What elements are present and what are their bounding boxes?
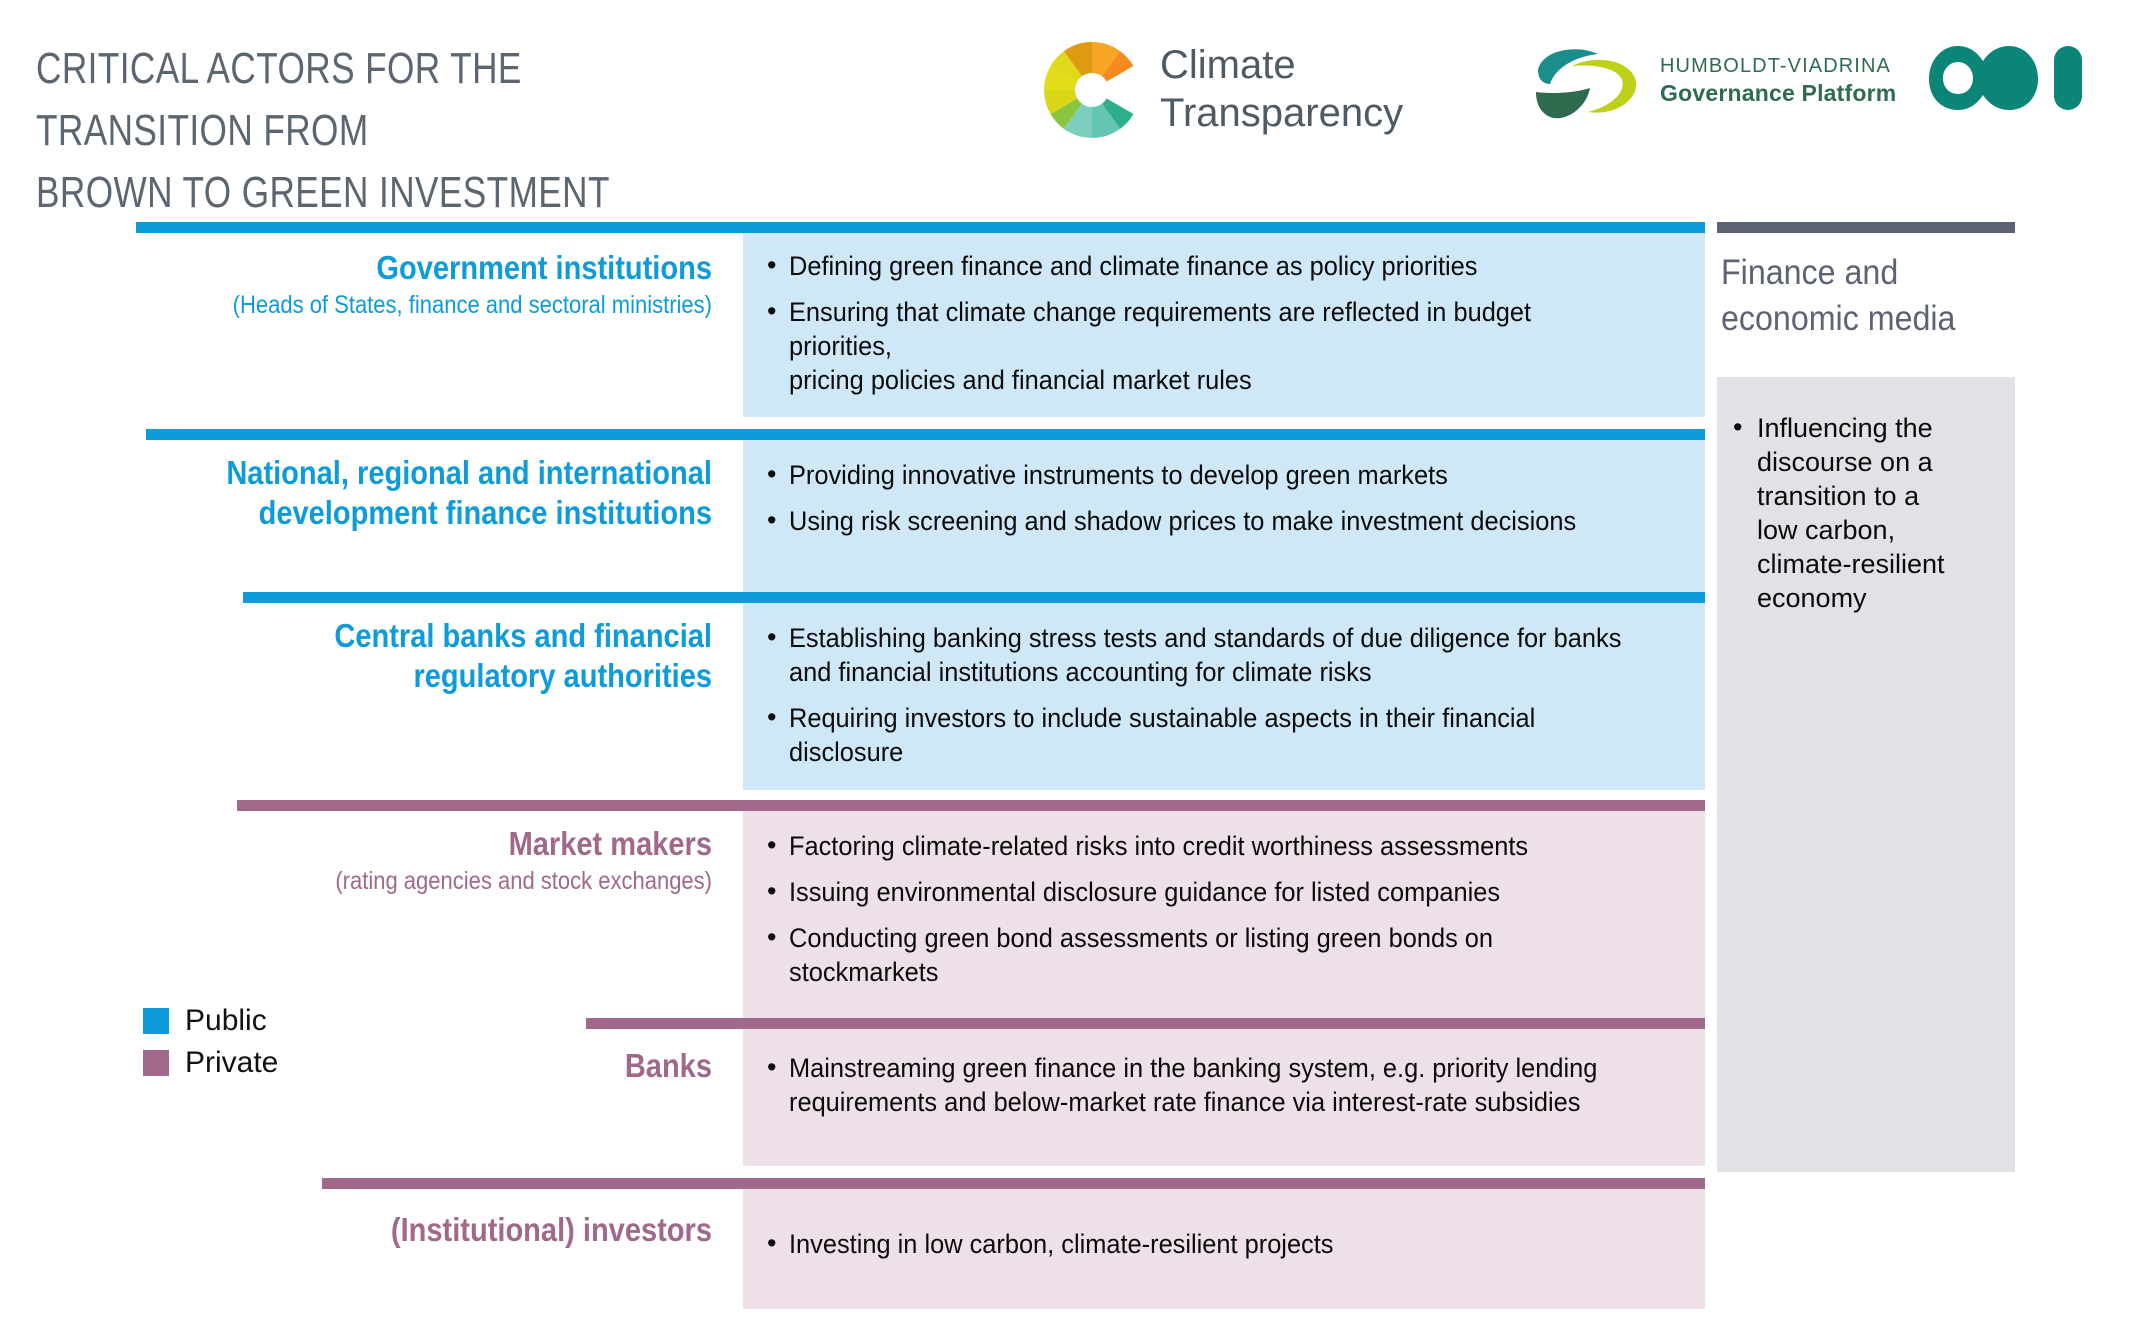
- bullet-text: Investing in low carbon, climate-resilie…: [789, 1227, 1333, 1261]
- humboldt-viadrina-line1: HUMBOLDT-VIADRINA: [1660, 55, 1891, 78]
- humboldt-viadrina-logo: HUMBOLDT-VIADRINA Governance Platform: [1528, 38, 1898, 134]
- row-accent-bar: [146, 429, 1705, 440]
- humboldt-viadrina-mark: [1528, 40, 1648, 128]
- row-accent-bar: [322, 1178, 1705, 1189]
- bullet-list: Investing in low carbon, climate-resilie…: [763, 1227, 1685, 1261]
- row-label: Market makers (rating agencies and stock…: [150, 824, 712, 898]
- bullet-list: Defining green finance and climate finan…: [763, 249, 1685, 397]
- sidebar-accent-bar: [1717, 222, 2015, 233]
- row-accent-bar: [243, 592, 1705, 603]
- sidebar-bullet-panel: Influencing the discourse on a transitio…: [1717, 377, 2015, 1172]
- bullet-text: Requiring investors to include sustainab…: [789, 701, 1631, 769]
- row-label-sub: (Heads of States, finance and sectoral m…: [217, 288, 712, 322]
- row-bullet-panel: Factoring climate-related risks into cre…: [743, 811, 1705, 1018]
- bullet-list: Mainstreaming green finance in the banki…: [763, 1051, 1685, 1119]
- row-label-main: Banks: [217, 1046, 712, 1086]
- bullet-item: Investing in low carbon, climate-resilie…: [763, 1227, 1685, 1261]
- bullet-text: Using risk screening and shadow prices t…: [789, 504, 1576, 538]
- odi-logo: [1928, 40, 2088, 114]
- row-label-main: Government institutions: [217, 248, 712, 288]
- bullet-text: Defining green finance and climate finan…: [789, 249, 1477, 283]
- bullet-list: Establishing banking stress tests and st…: [763, 621, 1685, 769]
- row-label: Government institutions (Heads of States…: [150, 248, 712, 322]
- row-label: National, regional and international dev…: [150, 453, 712, 533]
- legend-item-public: Public: [143, 1000, 278, 1042]
- page-title: CRITICAL ACTORS FOR THE TRANSITION FROM …: [36, 38, 724, 224]
- bullet-item: Establishing banking stress tests and st…: [763, 621, 1685, 689]
- bullet-item: Requiring investors to include sustainab…: [763, 701, 1685, 769]
- legend-label-private: Private: [185, 1048, 278, 1078]
- bullet-text: Providing innovative instruments to deve…: [789, 458, 1448, 492]
- row-bullet-panel: Mainstreaming green finance in the banki…: [743, 1029, 1705, 1166]
- row-bullet-panel: Investing in low carbon, climate-resilie…: [743, 1189, 1705, 1309]
- row-label: Central banks and financial regulatory a…: [150, 616, 712, 696]
- bullet-item: Influencing the discourse on a transitio…: [1731, 411, 2001, 615]
- bullet-item: Mainstreaming green finance in the banki…: [763, 1051, 1685, 1119]
- bullet-list: Providing innovative instruments to deve…: [763, 458, 1685, 538]
- bullet-item: Conducting green bond assessments or lis…: [763, 921, 1685, 989]
- row-label-main: National, regional and international dev…: [217, 453, 712, 533]
- legend-label-public: Public: [185, 1006, 267, 1036]
- humboldt-viadrina-line2: Governance Platform: [1660, 80, 1896, 107]
- legend-swatch-private-icon: [143, 1050, 169, 1076]
- bullet-text: Conducting green bond assessments or lis…: [789, 921, 1631, 989]
- climate-transparency-logo: Climate Transparency: [1040, 35, 1460, 145]
- row-bullet-panel: Establishing banking stress tests and st…: [743, 603, 1705, 790]
- row-bullet-panel: Providing innovative instruments to deve…: [743, 440, 1705, 592]
- bullet-text: Factoring climate-related risks into cre…: [789, 829, 1528, 863]
- bullet-text: Influencing the discourse on a transitio…: [1757, 413, 1945, 613]
- row-accent-bar: [586, 1018, 1705, 1029]
- legend-swatch-public-icon: [143, 1008, 169, 1034]
- climate-transparency-mark: [1040, 38, 1144, 142]
- bullet-item: Issuing environmental disclosure guidanc…: [763, 875, 1685, 909]
- row-label-main: (Institutional) investors: [217, 1210, 712, 1250]
- bullet-text: Ensuring that climate change requirement…: [789, 295, 1631, 397]
- bullet-item: Defining green finance and climate finan…: [763, 249, 1685, 283]
- bullet-text: Establishing banking stress tests and st…: [789, 621, 1621, 689]
- bullet-item: Ensuring that climate change requirement…: [763, 295, 1685, 397]
- bullet-item: Using risk screening and shadow prices t…: [763, 504, 1685, 538]
- bullet-item: Factoring climate-related risks into cre…: [763, 829, 1685, 863]
- legend: Public Private: [143, 1000, 278, 1084]
- row-label: (Institutional) investors: [150, 1210, 712, 1250]
- bullet-list: Influencing the discourse on a transitio…: [1717, 377, 2015, 615]
- climate-transparency-wordmark: Climate Transparency: [1160, 41, 1403, 137]
- page-header: CRITICAL ACTORS FOR THE TRANSITION FROM …: [0, 0, 2135, 170]
- bullet-list: Factoring climate-related risks into cre…: [763, 829, 1685, 989]
- bullet-text: Mainstreaming green finance in the banki…: [789, 1051, 1597, 1119]
- bullet-item: Providing innovative instruments to deve…: [763, 458, 1685, 492]
- bullet-text: Issuing environmental disclosure guidanc…: [789, 875, 1500, 909]
- row-accent-bar: [136, 222, 1705, 233]
- row-label-main: Central banks and financial regulatory a…: [217, 616, 712, 696]
- legend-item-private: Private: [143, 1042, 278, 1084]
- row-accent-bar: [237, 800, 1705, 811]
- row-label-sub: (rating agencies and stock exchanges): [217, 864, 712, 898]
- sidebar-title: Finance and economic media: [1721, 250, 1988, 342]
- row-bullet-panel: Defining green finance and climate finan…: [743, 233, 1705, 417]
- row-label-main: Market makers: [217, 824, 712, 864]
